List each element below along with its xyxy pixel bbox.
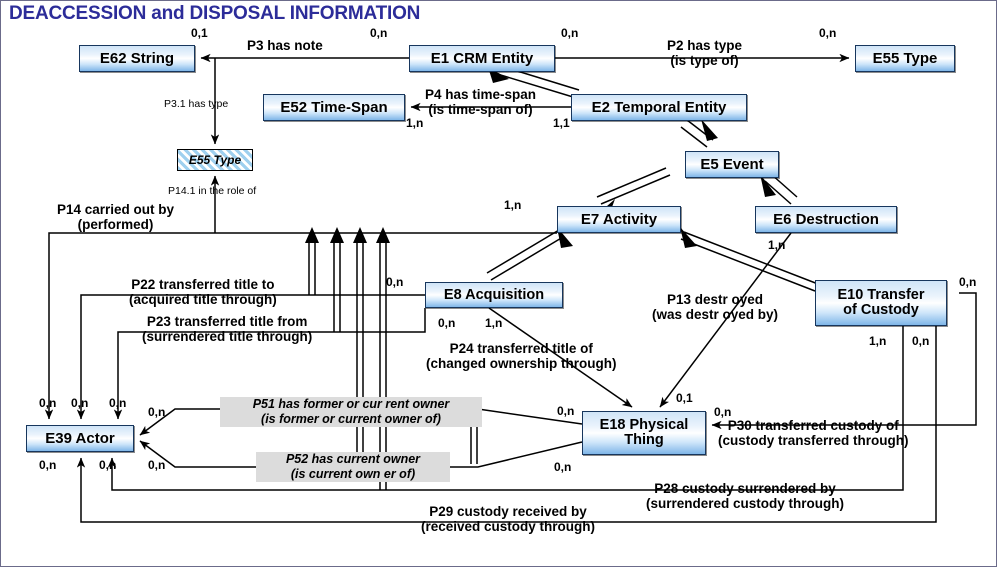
cardinality-label: 0,n bbox=[819, 27, 836, 40]
cardinality-label: 0,n bbox=[959, 276, 976, 289]
cardinality-label: 0,n bbox=[109, 397, 126, 410]
property-label-line1: P30 transferred custody of bbox=[718, 419, 909, 434]
edge-isa-e10-e7-a bbox=[681, 239, 815, 291]
property-label-line2: (is current own er of) bbox=[258, 467, 448, 482]
entity-box-e1[interactable]: E1 CRM Entity bbox=[409, 45, 555, 72]
property-label-line1: P23 transferred title from bbox=[142, 315, 312, 330]
property-label-line1: P2 has type bbox=[667, 39, 742, 54]
shortcut-property-label-p51: P51 has former or cur rent owner(is form… bbox=[220, 397, 482, 427]
cardinality-label: 0,n bbox=[561, 27, 578, 40]
cardinality-label: 1,n bbox=[485, 317, 502, 330]
property-label-line1: P3 has note bbox=[247, 39, 323, 54]
entity-label: E8 Acquisition bbox=[444, 288, 544, 303]
entity-label: E10 Transferof Custody bbox=[837, 288, 924, 318]
property-label-line1: P29 custody received by bbox=[421, 505, 595, 520]
property-label-line1: P14.1 in the role of bbox=[168, 186, 256, 197]
property-label-line1: P22 transferred title to bbox=[129, 278, 277, 293]
property-label-line2: (received custody through) bbox=[421, 520, 595, 535]
property-label-p141: P14.1 in the role of bbox=[168, 186, 256, 197]
entity-box-e55h[interactable]: E55 Type bbox=[177, 149, 253, 171]
entity-label: E5 Event bbox=[700, 157, 763, 172]
property-label-line2: (custody transferred through) bbox=[718, 434, 909, 449]
edge-isa-e7-e5-b bbox=[597, 168, 666, 197]
property-label-line2: (acquired title through) bbox=[129, 293, 277, 308]
cardinality-label: 0,n bbox=[148, 459, 165, 472]
property-label-line1: P14 carried out by bbox=[57, 203, 174, 218]
edge-isa-e5-e2-a bbox=[681, 127, 707, 147]
cardinality-label: 0,1 bbox=[676, 392, 693, 405]
property-label-line2: (changed ownership through) bbox=[426, 357, 617, 372]
property-label-line2: (was destr oyed by) bbox=[652, 308, 778, 323]
cardinality-label: 0,n bbox=[99, 459, 116, 472]
entity-box-e39[interactable]: E39 Actor bbox=[26, 425, 134, 452]
entity-box-e55t[interactable]: E55 Type bbox=[855, 45, 955, 72]
cardinality-label: 1,n bbox=[768, 239, 785, 252]
property-label-line2: (is type of) bbox=[667, 54, 742, 69]
diagram-canvas: DEACCESSION and DISPOSAL INFORMATION bbox=[0, 0, 997, 567]
property-label-line1: P28 custody surrendered by bbox=[646, 482, 844, 497]
cardinality-label: 0,n bbox=[714, 406, 731, 419]
entity-box-e18[interactable]: E18 PhysicalThing bbox=[582, 411, 706, 455]
cardinality-label: 0,n bbox=[148, 406, 165, 419]
property-label-p28: P28 custody surrendered by(surrendered c… bbox=[646, 482, 844, 511]
cardinality-label: 0,n bbox=[557, 405, 574, 418]
property-label-line2: (is time-span of) bbox=[425, 103, 536, 118]
property-label-line1: P52 has current owner bbox=[258, 452, 448, 467]
entity-box-e8[interactable]: E8 Acquisition bbox=[425, 282, 563, 308]
entity-label: E52 Time-Span bbox=[280, 100, 387, 115]
shortcut-property-label-p52: P52 has current owner(is current own er … bbox=[256, 452, 450, 482]
property-label-line2: (is former or current owner of) bbox=[222, 412, 480, 427]
cardinality-label: 0,n bbox=[554, 461, 571, 474]
property-label-line1: P24 transferred title of bbox=[426, 342, 617, 357]
entity-box-e52[interactable]: E52 Time-Span bbox=[263, 94, 405, 121]
property-label-line2: (performed) bbox=[57, 218, 174, 233]
property-label-p24: P24 transferred title of(changed ownersh… bbox=[426, 342, 617, 371]
entity-label: E39 Actor bbox=[45, 431, 114, 446]
edge-isa-e8-e7-a bbox=[491, 237, 563, 280]
entity-label: E1 CRM Entity bbox=[431, 51, 534, 66]
entity-label: E62 String bbox=[100, 51, 174, 66]
cardinality-label: 0,n bbox=[39, 397, 56, 410]
edge-isa-e8-e7-b bbox=[487, 230, 559, 273]
cardinality-label: 1,n bbox=[504, 199, 521, 212]
cardinality-label: 0,n bbox=[912, 335, 929, 348]
property-label-line2: (surrendered title through) bbox=[142, 330, 312, 345]
entity-box-e7[interactable]: E7 Activity bbox=[557, 206, 681, 233]
property-label-line1: P51 has former or cur rent owner bbox=[222, 397, 480, 412]
property-label-p29: P29 custody received by(received custody… bbox=[421, 505, 595, 534]
cardinality-label: 0,1 bbox=[191, 27, 208, 40]
property-label-line2: (surrendered custody through) bbox=[646, 497, 844, 512]
property-label-p31: P3.1 has type bbox=[164, 99, 228, 110]
property-label-line1: P13 destr oyed bbox=[652, 293, 778, 308]
cardinality-label: 1,n bbox=[406, 117, 423, 130]
cardinality-label: 1,n bbox=[869, 335, 886, 348]
entity-label: E18 PhysicalThing bbox=[600, 418, 689, 448]
entity-box-e62[interactable]: E62 String bbox=[79, 45, 195, 72]
cardinality-label: 0,n bbox=[39, 459, 56, 472]
property-label-p14: P14 carried out by(performed) bbox=[57, 203, 174, 232]
property-label-p3: P3 has note bbox=[247, 39, 323, 54]
entity-box-e6[interactable]: E6 Destruction bbox=[755, 206, 897, 233]
cardinality-label: 0,n bbox=[386, 276, 403, 289]
property-label-p22: P22 transferred title to(acquired title … bbox=[129, 278, 277, 307]
cardinality-label: 0,n bbox=[71, 397, 88, 410]
cardinality-label: 1,1 bbox=[553, 117, 570, 130]
cardinality-label: 0,n bbox=[370, 27, 387, 40]
entity-label: E7 Activity bbox=[581, 212, 657, 227]
entity-label: E6 Destruction bbox=[773, 212, 879, 227]
entity-label: E55 Type bbox=[873, 51, 938, 66]
property-label-p23: P23 transferred title from(surrendered t… bbox=[142, 315, 312, 344]
edge-isa-e10-e7-b bbox=[684, 232, 818, 284]
property-label-p4: P4 has time-span(is time-span of) bbox=[425, 88, 536, 117]
entity-box-e10[interactable]: E10 Transferof Custody bbox=[815, 280, 947, 326]
edge-isa-e7-e5-a bbox=[601, 175, 670, 204]
property-label-p30: P30 transferred custody of(custody trans… bbox=[718, 419, 909, 448]
property-label-p13: P13 destr oyed(was destr oyed by) bbox=[652, 293, 778, 322]
entity-box-e2[interactable]: E2 Temporal Entity bbox=[571, 94, 747, 121]
cardinality-label: 0,n bbox=[438, 317, 455, 330]
property-label-line1: P3.1 has type bbox=[164, 99, 228, 110]
property-label-p2: P2 has type(is type of) bbox=[667, 39, 742, 68]
entity-box-e5[interactable]: E5 Event bbox=[685, 151, 779, 178]
entity-label: E2 Temporal Entity bbox=[592, 100, 727, 115]
property-label-line1: P4 has time-span bbox=[425, 88, 536, 103]
